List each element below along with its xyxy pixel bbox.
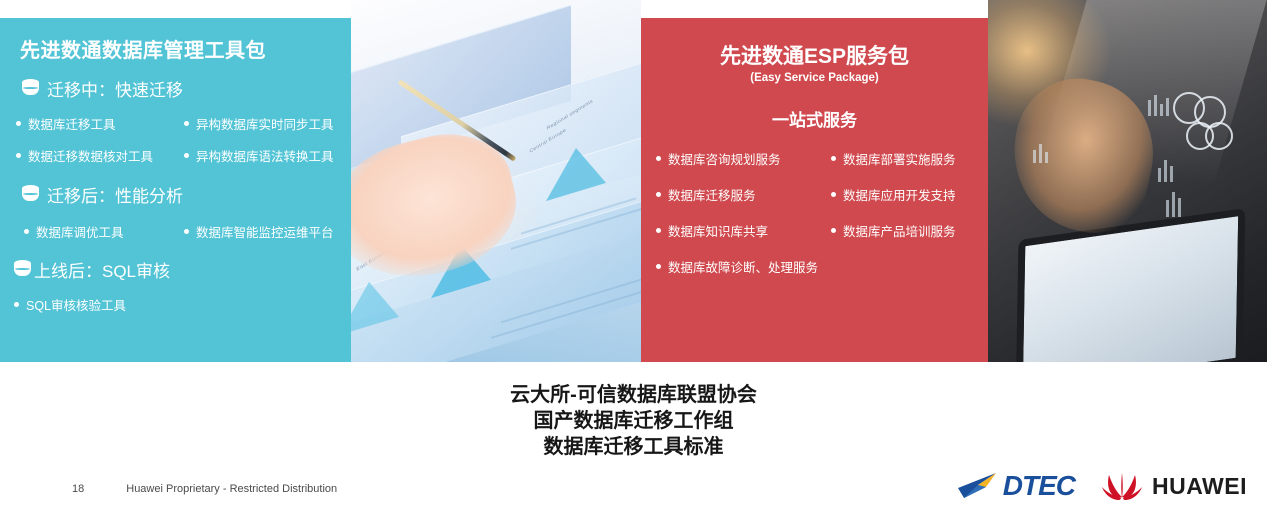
list-item: 数据库知识库共享 bbox=[656, 221, 831, 240]
list-item-label: 异构数据库实时同步工具 bbox=[196, 114, 334, 133]
list-item-label: 异构数据库语法转换工具 bbox=[196, 146, 334, 165]
bottom-title-line-2: 国产数据库迁移工作组 bbox=[0, 408, 1267, 434]
bottom-title-line-3: 数据库迁移工具标准 bbox=[0, 434, 1267, 460]
dtec-logo: DTEC bbox=[956, 470, 1075, 502]
list-item-label: 数据迁移数据核对工具 bbox=[28, 146, 153, 165]
section-heading-after-golive: 上线后：SQL审核 bbox=[14, 257, 351, 282]
list-item: 数据库应用开发支持 bbox=[831, 185, 981, 204]
list-item: 数据库迁移服务 bbox=[656, 185, 831, 204]
section-heading-label: 迁移后：性能分析 bbox=[47, 182, 183, 207]
list-item-label: 数据库迁移工具 bbox=[28, 114, 116, 133]
list-item: 数据库迁移工具 bbox=[16, 114, 184, 133]
bullet-dot-icon bbox=[831, 156, 836, 161]
esp-section-heading: 一站式服务 bbox=[641, 106, 988, 131]
database-icon bbox=[14, 260, 31, 279]
database-icon bbox=[22, 185, 39, 204]
list-item-label: SQL审核核验工具 bbox=[26, 295, 126, 314]
list-item-label: 数据库部署实施服务 bbox=[843, 149, 956, 168]
list-item-label: 数据库应用开发支持 bbox=[843, 185, 956, 204]
photo-finger-on-tablet bbox=[988, 0, 1267, 362]
list-item-label: 数据库故障诊断、处理服务 bbox=[668, 257, 818, 276]
list-item-label: 数据库迁移服务 bbox=[668, 185, 756, 204]
bullet-dot-icon bbox=[831, 192, 836, 197]
list-item: 数据库产品培训服务 bbox=[831, 221, 981, 240]
esp-card-title: 先进数通ESP服务包 bbox=[641, 40, 988, 70]
esp-service-list: 数据库咨询规划服务 数据库部署实施服务 数据库迁移服务 数据库应用开发支持 数据… bbox=[656, 149, 988, 276]
footer-logos: DTEC HUAWEI bbox=[956, 470, 1247, 502]
huawei-flower-icon bbox=[1101, 471, 1143, 501]
list-item: 数据库部署实施服务 bbox=[831, 149, 981, 168]
photo-hand-writing-charts: Regional segments Central Europe West Eu… bbox=[351, 0, 641, 362]
confidentiality-notice: Huawei Proprietary - Restricted Distribu… bbox=[126, 483, 337, 495]
list-item: 异构数据库实时同步工具 bbox=[184, 114, 349, 133]
bullet-dot-icon bbox=[656, 264, 661, 269]
list-item: 数据库智能监控运维平台 bbox=[184, 222, 344, 241]
bullet-dot-icon bbox=[16, 121, 21, 126]
bullet-dot-icon bbox=[184, 121, 189, 126]
list-item-label: 数据库咨询规划服务 bbox=[668, 149, 781, 168]
database-icon bbox=[22, 79, 39, 98]
list-item-label: 数据库智能监控运维平台 bbox=[196, 222, 334, 241]
bullet-dot-icon bbox=[24, 229, 29, 234]
bullet-dot-icon bbox=[656, 156, 661, 161]
bullet-dot-icon bbox=[16, 153, 21, 158]
list-item: 数据库故障诊断、处理服务 bbox=[656, 257, 956, 276]
toolkit-card-title: 先进数通数据库管理工具包 bbox=[0, 18, 351, 63]
toolkit-card: 先进数通数据库管理工具包 迁移中：快速迁移 数据库迁移工具 异构数据库实时同步工… bbox=[0, 18, 351, 362]
huawei-logo: HUAWEI bbox=[1101, 471, 1247, 501]
bullet-dot-icon bbox=[831, 228, 836, 233]
list-item: 数据迁移数据核对工具 bbox=[16, 146, 184, 165]
huawei-wordmark: HUAWEI bbox=[1152, 473, 1247, 500]
page-number: 18 bbox=[72, 483, 84, 495]
list-item-label: 数据库产品培训服务 bbox=[843, 221, 956, 240]
bullet-dot-icon bbox=[14, 302, 19, 307]
list-item-label: 数据库知识库共享 bbox=[668, 221, 768, 240]
dtec-wordmark: DTEC bbox=[1003, 470, 1075, 502]
toolkit-section-1-list: 数据库迁移工具 异构数据库实时同步工具 数据迁移数据核对工具 异构数据库语法转换… bbox=[16, 114, 351, 165]
list-item-label: 数据库调优工具 bbox=[36, 222, 124, 241]
bullet-dot-icon bbox=[184, 229, 189, 234]
dtec-arrow-icon bbox=[956, 471, 1002, 501]
banner-band: Regional segments Central Europe West Eu… bbox=[0, 18, 1267, 362]
section-heading-label: 迁移中：快速迁移 bbox=[47, 76, 183, 101]
toolkit-section-3-list: SQL审核核验工具 bbox=[14, 295, 351, 314]
list-item: SQL审核核验工具 bbox=[14, 295, 126, 314]
toolkit-section-2-list: 数据库调优工具 数据库智能监控运维平台 bbox=[24, 222, 351, 241]
bullet-dot-icon bbox=[656, 228, 661, 233]
section-heading-migrating: 迁移中：快速迁移 bbox=[22, 76, 351, 101]
list-item: 异构数据库语法转换工具 bbox=[184, 146, 349, 165]
list-item: 数据库调优工具 bbox=[24, 222, 184, 241]
section-heading-after-migration: 迁移后：性能分析 bbox=[22, 182, 351, 207]
bullet-dot-icon bbox=[656, 192, 661, 197]
bottom-title-line-1: 云大所-可信数据库联盟协会 bbox=[0, 382, 1267, 408]
esp-service-card: 先进数通ESP服务包 (Easy Service Package) 一站式服务 … bbox=[641, 18, 988, 362]
list-item: 数据库咨询规划服务 bbox=[656, 149, 831, 168]
section-heading-label: 上线后：SQL审核 bbox=[34, 257, 170, 282]
bottom-title-block: 云大所-可信数据库联盟协会 国产数据库迁移工作组 数据库迁移工具标准 bbox=[0, 382, 1267, 460]
bullet-dot-icon bbox=[184, 153, 189, 158]
esp-card-subtitle: (Easy Service Package) bbox=[641, 72, 988, 84]
footer-left: 18 Huawei Proprietary - Restricted Distr… bbox=[72, 483, 337, 495]
